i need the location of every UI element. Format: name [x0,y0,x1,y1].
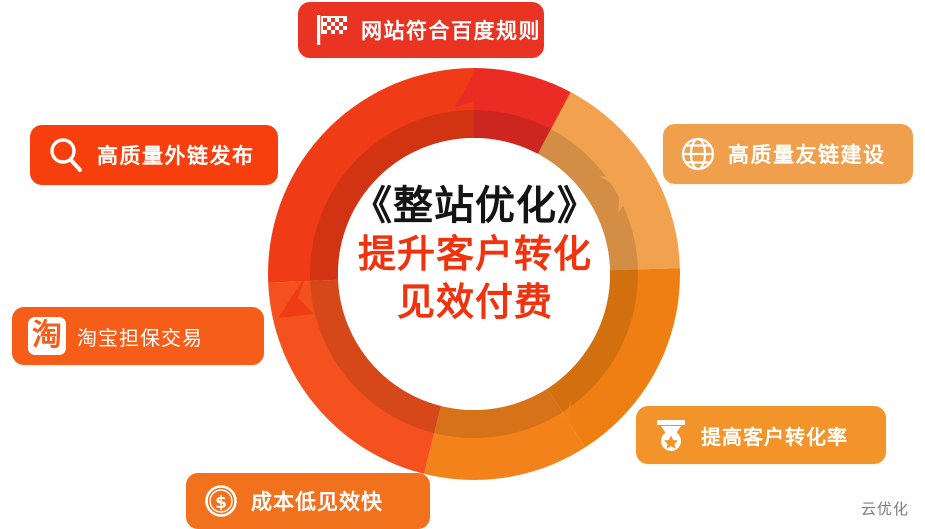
pill-label: 成本低见效快 [251,486,383,516]
infographic-canvas: 《整站优化》 提升客户转化 见效付费 [0,0,925,529]
center-line-1: 提升客户转化 [320,235,630,276]
medal-star-icon [652,416,690,454]
pill-taobao-escrow[interactable]: 淘 淘宝担保交易 [12,307,264,365]
globe-icon [679,135,717,173]
pill-label: 高质量外链发布 [97,140,255,170]
taobao-icon-glyph: 淘 [28,317,66,355]
pill-label: 提高客户转化率 [701,421,848,450]
pill-increase-conversion[interactable]: 提高客户转化率 [636,406,886,464]
pill-label: 高质量友链建设 [728,139,886,169]
dollar-coin-icon: $ [202,482,240,520]
pill-quality-friendly-links[interactable]: 高质量友链建设 [663,124,913,184]
center-line-2: 见效付费 [320,283,630,324]
checkered-flag-icon [314,13,350,47]
center-text-block: 《整站优化》 提升客户转化 见效付费 [320,185,630,324]
pill-low-cost-fast-result[interactable]: $ 成本低见效快 [186,473,430,529]
center-title: 《整站优化》 [320,185,630,228]
pill-quality-backlinks[interactable]: 高质量外链发布 [30,125,278,185]
pill-label: 网站符合百度规则 [361,15,541,45]
svg-text:$: $ [215,493,227,513]
taobao-icon: 淘 [28,317,66,355]
watermark: 云优化 [861,498,909,519]
pill-baidu-rules[interactable]: 网站符合百度规则 [298,2,544,58]
pill-label: 淘宝担保交易 [77,322,203,351]
search-icon [46,135,86,175]
